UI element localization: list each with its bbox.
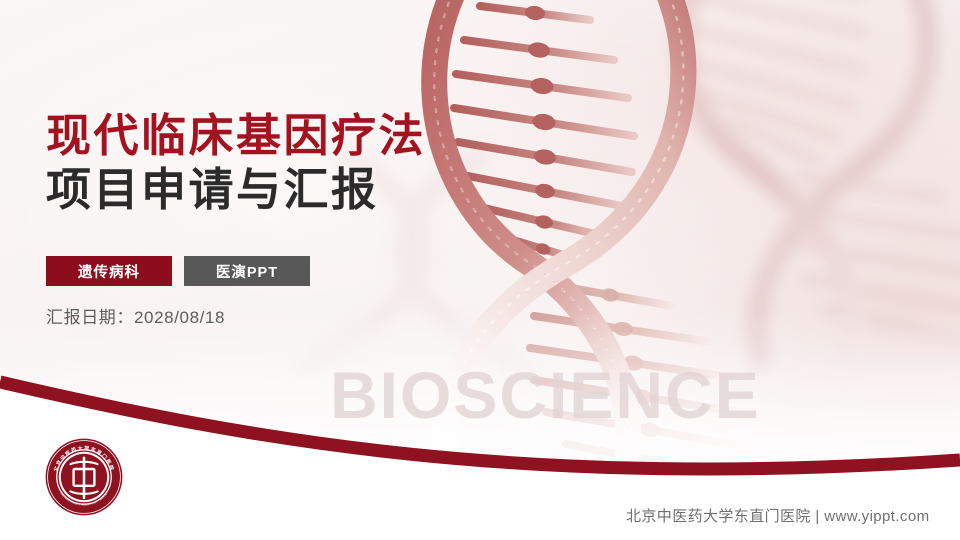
badge-department[interactable]: 遗传病科 bbox=[46, 256, 172, 286]
presentation-title-slide: BIOSCIENCE 现代临床基因疗法 项目申请与汇报 遗传病科 医演PPT 汇… bbox=[0, 0, 960, 540]
report-date: 汇报日期：2028/08/18 bbox=[46, 303, 225, 328]
footer-credit: 北京中医药大学东直门医院 | www.yippt.com bbox=[626, 505, 929, 526]
page-title-primary: 现代临床基因疗法 bbox=[46, 112, 426, 159]
badge-group: 遗传病科 医演PPT bbox=[46, 256, 310, 286]
page-title-secondary: 项目申请与汇报 bbox=[46, 166, 426, 213]
title-block: 现代临床基因疗法 项目申请与汇报 bbox=[46, 112, 426, 214]
badge-brand[interactable]: 医演PPT bbox=[184, 256, 310, 286]
hospital-seal-logo: 北京中医药大学东直门医院 DONGZHIMEN HOSPITAL · BUCM bbox=[44, 437, 124, 517]
